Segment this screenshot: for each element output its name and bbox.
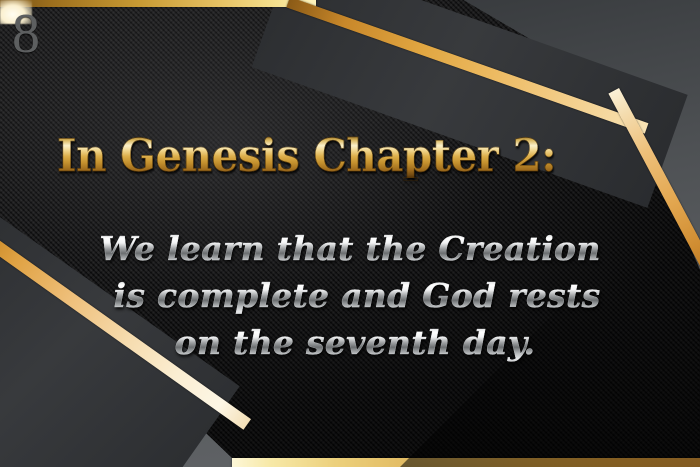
slide-heading: In Genesis Chapter 2: [57,133,556,178]
body-text-line: on the seventh day. [10,320,700,367]
body-text-line: is complete and God rests [14,273,700,320]
body-text-line: We learn that the Creation [0,226,700,273]
gold-edge-stripe-bottom [232,458,700,467]
gold-edge-stripe-top [0,0,316,7]
slide-number: 8 [12,6,40,62]
slide-body-text: We learn that the Creation is complete a… [0,226,700,367]
presentation-slide: 8 In Genesis Chapter 2: We learn that th… [0,0,700,467]
